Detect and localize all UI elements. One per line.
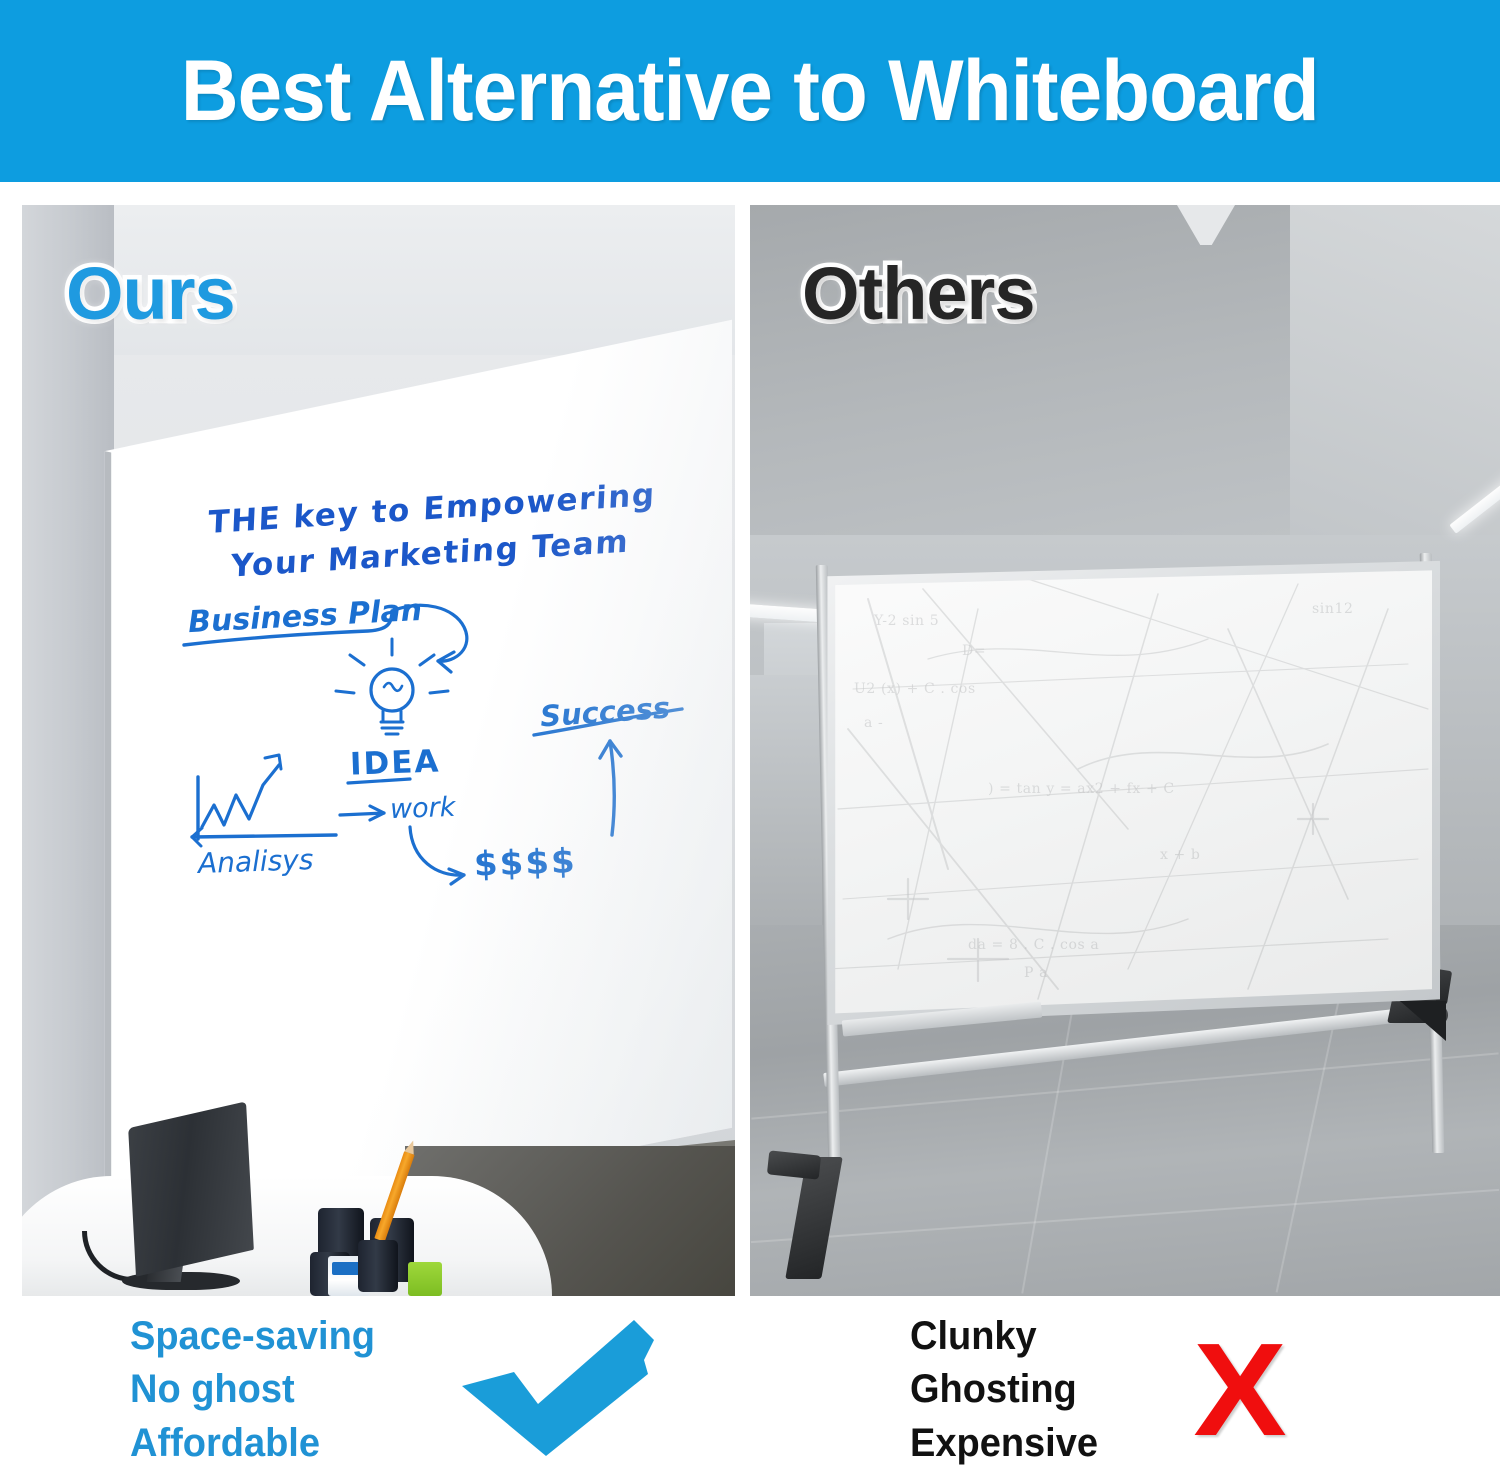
ours-green-box [408,1262,442,1296]
cons-item-3: Expensive [910,1417,1098,1470]
ghost-fragment-2: D= [962,643,986,659]
ghost-fragment-9: sin12 [1312,601,1354,617]
ghost-fragment-7: da = 8 . C . cos a [968,937,1099,953]
ours-pen-cup-b [358,1240,398,1292]
x-mark-icon: X [1193,1324,1286,1456]
verdict-cons: Clunky Ghosting Expensive X [910,1296,1284,1484]
pros-item-1: Space-saving [130,1310,375,1363]
cons-item-1: Clunky [910,1310,1098,1363]
ghost-fragment-1: Y-2 sin 5 [874,613,939,629]
ghost-fragment-3: U2 (x) + C . cos [854,681,976,697]
ghost-fragment-6: x + b [1160,847,1201,863]
header-banner: Best Alternative to Whiteboard [0,0,1500,182]
ghost-fragment-8: P a [1024,965,1048,981]
others-open-office-area-2 [750,675,822,965]
ours-monitor [128,1101,254,1276]
panel-others: Y-2 sin 5 D= U2 (x) + C . cos a - ) = ta… [750,205,1500,1296]
pros-item-3: Affordable [130,1417,375,1470]
panel-label-others: Others [802,257,1035,331]
comparison-panels: THE key to Empowering Your Marketing Tea… [0,205,1500,1296]
cons-list: Clunky Ghosting Expensive [910,1310,1098,1470]
check-mark-svg [458,1318,658,1458]
ghosting-stains: Y-2 sin 5 D= U2 (x) + C . cos a - ) = ta… [828,569,1432,1016]
whiteboard-surface-ghosted: Y-2 sin 5 D= U2 (x) + C . cos a - ) = ta… [828,569,1432,1016]
pros-item-2: No ghost [130,1363,375,1416]
check-mark-icon [458,1318,658,1463]
ours-side-wall [22,205,114,1296]
page-title: Best Alternative to Whiteboard [181,48,1319,134]
verdict-pros: Space-saving No ghost Affordable [130,1296,658,1484]
ghost-fragment-4: a - [864,715,883,731]
cons-item-2: Ghosting [910,1363,1098,1416]
ghost-fragment-5: ) = tan y = ax2 + fx + C [988,781,1175,797]
panel-label-ours: Ours [66,257,235,331]
others-ceiling-right [1290,205,1500,535]
pros-list: Space-saving No ghost Affordable [130,1310,375,1470]
verdict-strip: Space-saving No ghost Affordable Clunky … [0,1296,1500,1484]
panel-ours: THE key to Empowering Your Marketing Tea… [22,205,735,1296]
